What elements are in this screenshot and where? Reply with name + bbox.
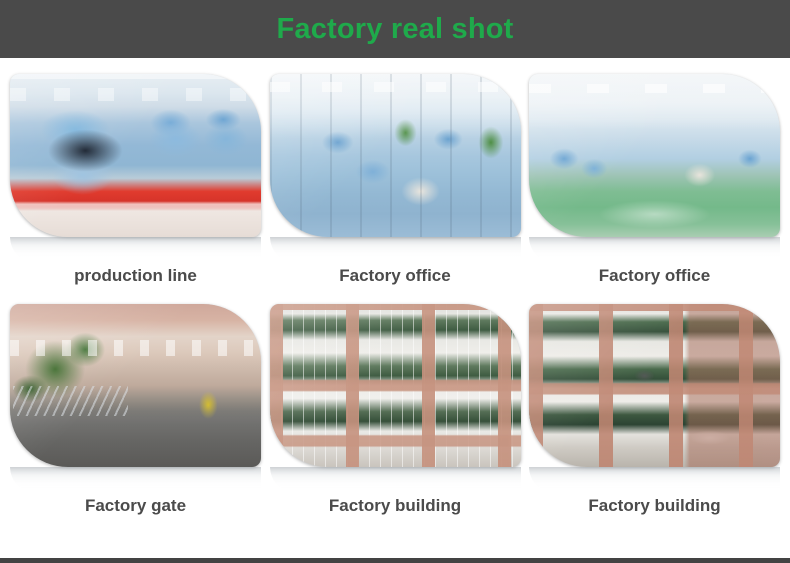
photo-reflection bbox=[270, 467, 521, 493]
photo-card-factory-office-1[interactable]: Factory office bbox=[270, 74, 521, 287]
photo-caption: Factory office bbox=[270, 265, 521, 287]
photo-thumbnail[interactable] bbox=[270, 304, 521, 467]
photo-thumbnail[interactable] bbox=[529, 74, 780, 237]
photo-reflection bbox=[529, 467, 780, 493]
factory-building-photo bbox=[270, 304, 521, 467]
photo-caption: Factory gate bbox=[10, 495, 261, 517]
photo-thumbnail[interactable] bbox=[270, 74, 521, 237]
photo-card-factory-office-2[interactable]: Factory office bbox=[529, 74, 780, 287]
photo-caption: production line bbox=[10, 265, 261, 287]
footer-bar bbox=[0, 558, 790, 563]
photo-caption: Factory office bbox=[529, 265, 780, 287]
page-header: Factory real shot bbox=[0, 0, 790, 58]
factory-photo-gallery: production line Factory office Factory o… bbox=[0, 58, 790, 517]
factory-building-van-photo bbox=[529, 304, 780, 467]
factory-gate-photo bbox=[10, 304, 261, 467]
photo-thumbnail[interactable] bbox=[10, 304, 261, 467]
photo-card-factory-gate[interactable]: Factory gate bbox=[10, 304, 261, 517]
factory-office-wide-photo bbox=[529, 74, 780, 237]
production-line-photo bbox=[10, 74, 261, 237]
photo-reflection bbox=[10, 237, 261, 263]
photo-card-factory-building-1[interactable]: Factory building bbox=[270, 304, 521, 517]
gallery-row: production line Factory office Factory o… bbox=[10, 74, 780, 287]
photo-card-factory-building-2[interactable]: Factory building bbox=[529, 304, 780, 517]
photo-reflection bbox=[529, 237, 780, 263]
photo-reflection bbox=[270, 237, 521, 263]
photo-reflection bbox=[10, 467, 261, 493]
photo-thumbnail[interactable] bbox=[529, 304, 780, 467]
page-title: Factory real shot bbox=[276, 15, 513, 44]
photo-card-production-line[interactable]: production line bbox=[10, 74, 261, 287]
gallery-row: Factory gate Factory building Factory bu… bbox=[10, 304, 780, 517]
photo-caption: Factory building bbox=[529, 495, 780, 517]
photo-caption: Factory building bbox=[270, 495, 521, 517]
factory-office-photo bbox=[270, 74, 521, 237]
photo-thumbnail[interactable] bbox=[10, 74, 261, 237]
